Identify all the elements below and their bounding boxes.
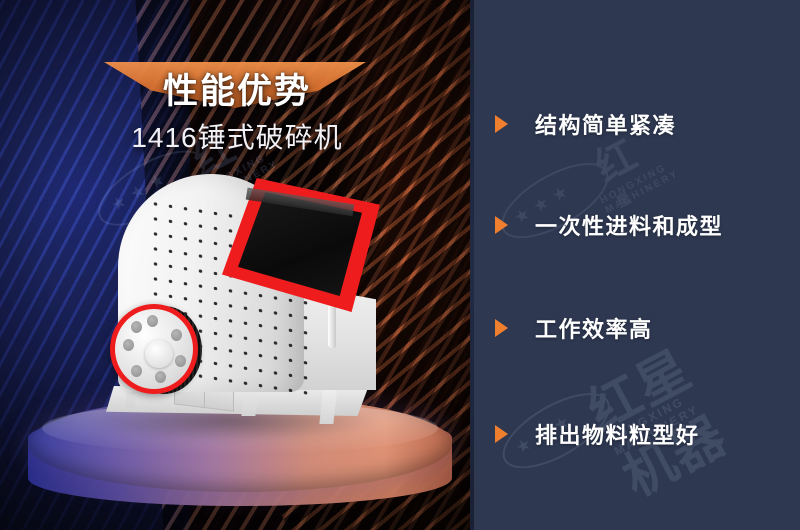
feature-label: 排出物料粒型好: [535, 418, 700, 450]
triangle-right-icon: [495, 115, 508, 133]
watermark-brand-en: HONGXING MACHINERY: [599, 133, 729, 216]
feature-label: 工作效率高: [535, 312, 653, 344]
feature-item[interactable]: 结构简单紧凑: [474, 108, 800, 140]
promo-banner: ★ ★ ★ 红 星 HONGXING MACHINERY 性能优势 1416锤式…: [0, 0, 800, 530]
machine-flywheel: [110, 304, 202, 396]
flywheel-hub: [145, 340, 173, 368]
triangle-right-icon: [495, 319, 508, 337]
feature-item[interactable]: 工作效率高: [474, 312, 800, 344]
triangle-right-icon: [495, 216, 508, 234]
feature-label: 结构简单紧凑: [535, 108, 676, 140]
triangle-right-icon: [495, 425, 508, 443]
page-subtitle: 1416锤式破碎机: [0, 116, 474, 156]
feature-item[interactable]: 一次性进料和成型: [474, 209, 800, 241]
feature-item[interactable]: 排出物料粒型好: [474, 418, 800, 450]
flywheel-disc: [115, 309, 193, 389]
product-image-hammer-crusher: [96, 168, 376, 436]
feature-label: 一次性进料和成型: [535, 209, 723, 241]
banner-title-block: 性能优势 1416锤式破碎机: [0, 30, 474, 130]
page-title: 性能优势: [0, 63, 474, 114]
left-hero-panel: ★ ★ ★ 红 星 HONGXING MACHINERY 性能优势 1416锤式…: [0, 0, 474, 530]
features-panel: ★ ★ ★ 红 星 HONGXING MACHINERY ★ ★ ★ 红星机器 …: [474, 0, 800, 530]
